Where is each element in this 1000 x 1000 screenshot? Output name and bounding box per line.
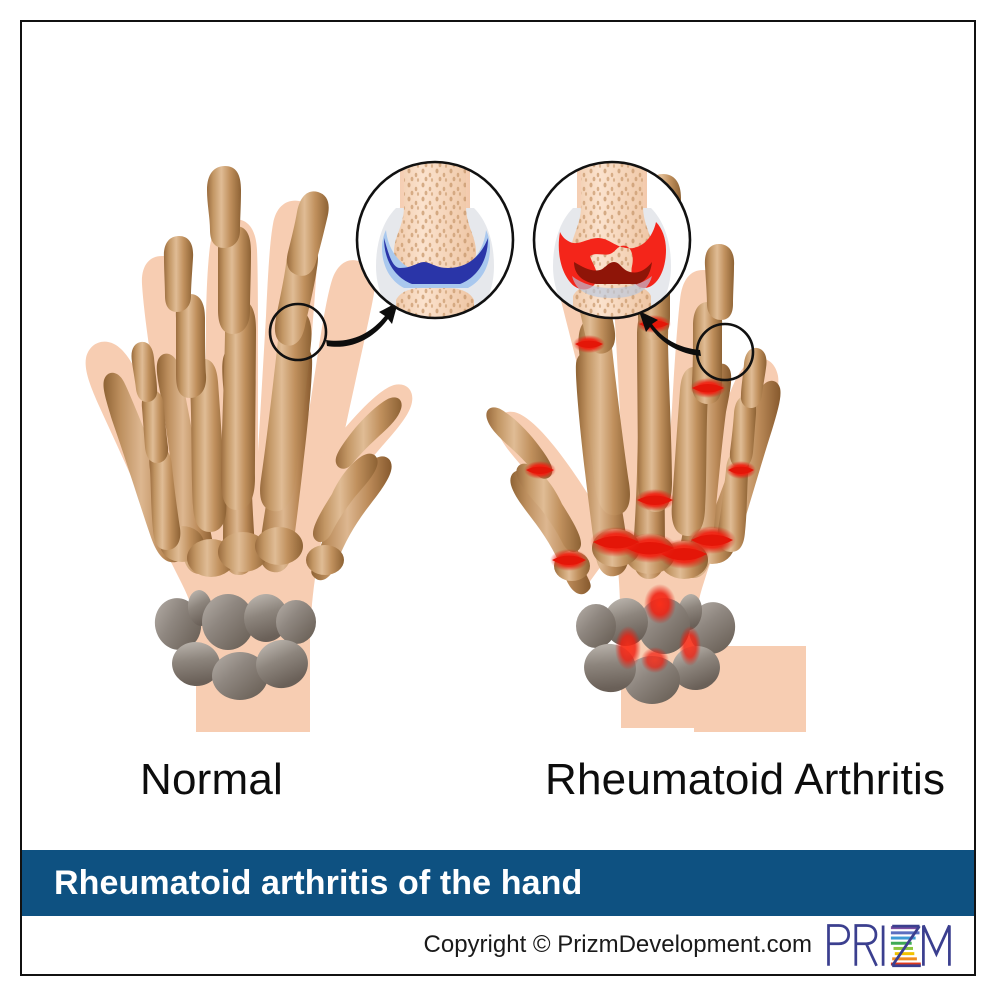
inflammation-marker (690, 378, 726, 398)
footer-bar: Copyright © PrizmDevelopment.com (22, 916, 974, 974)
inflammation-marker (635, 489, 675, 511)
title-banner: Rheumatoid arthritis of the hand (22, 850, 974, 916)
panel-label-normal: Normal (140, 755, 283, 805)
inflammation-marker (726, 461, 756, 479)
normal-joint-inset (357, 158, 513, 328)
copyright-text: Copyright © PrizmDevelopment.com (424, 931, 822, 959)
panel-label-rheumatoid-arthritis: Rheumatoid Arthritis (545, 755, 945, 805)
normal-carpal-bones (150, 589, 316, 700)
inflammation-marker (573, 335, 605, 353)
figure-root: Normal Rheumatoid Arthritis Rheumatoid a… (0, 0, 1000, 1000)
prizm-logo (822, 920, 952, 970)
inflammation-marker (550, 549, 588, 571)
inflammation-marker (524, 461, 556, 479)
inflammation-marker (590, 527, 642, 557)
banner-title: Rheumatoid arthritis of the hand (22, 864, 582, 903)
